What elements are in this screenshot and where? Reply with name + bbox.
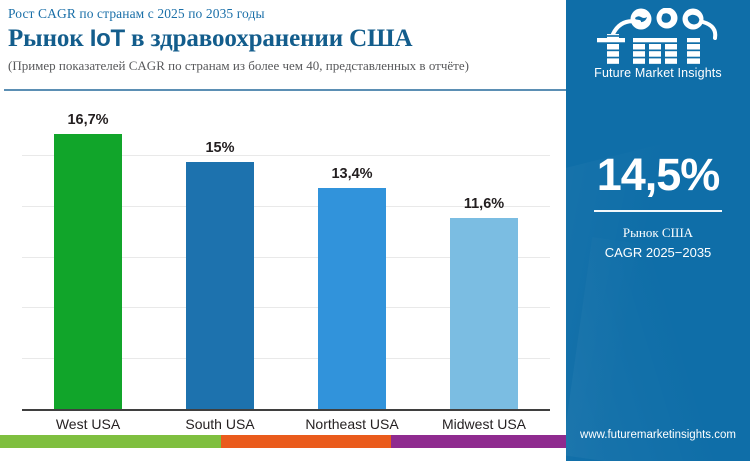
bar[interactable] <box>318 188 386 409</box>
category-label: West USA <box>22 416 154 432</box>
header-eyebrow: Рост CAGR по странам с 2025 по 2035 годы <box>8 6 560 22</box>
bar-group[interactable]: 13,4% <box>286 104 418 409</box>
bar[interactable] <box>186 162 254 409</box>
strip-segment <box>221 435 391 448</box>
fmi-logo-svg <box>583 8 733 64</box>
title-part-before: Рынок <box>8 25 90 52</box>
chart-axis-line <box>22 409 550 411</box>
infographic-poster: Рост CAGR по странам с 2025 по 2035 годы… <box>0 0 750 461</box>
category-label: South USA <box>154 416 286 432</box>
strip-segment <box>391 435 566 448</box>
chart-panel: Рост CAGR по странам с 2025 по 2035 годы… <box>0 0 566 448</box>
category-label: Midwest USA <box>418 416 550 432</box>
category-label: Northeast USA <box>286 416 418 432</box>
strip-segment <box>0 435 221 448</box>
fmi-logo-icon <box>583 8 733 64</box>
brand-tagline: Future Market Insights <box>566 66 750 80</box>
bar-group[interactable]: 15% <box>154 104 286 409</box>
bar[interactable] <box>54 134 122 409</box>
bar-value-label: 13,4% <box>331 166 372 182</box>
website-url[interactable]: www.futuremarketinsights.com <box>566 429 750 441</box>
bar-value-label: 15% <box>205 140 234 156</box>
brand-panel: Future Market Insights 14,5% Рынок США C… <box>566 0 750 461</box>
title-part-after: в здравоохранении США <box>125 25 413 52</box>
header: Рост CAGR по странам с 2025 по 2035 годы… <box>8 6 560 74</box>
metric-caption-period: CAGR 2025−2035 <box>566 243 750 263</box>
bar-value-label: 11,6% <box>464 196 504 212</box>
metric-caption-market: Рынок США <box>566 223 750 243</box>
metric-value: 14,5% <box>566 152 750 197</box>
chart-bars: 16,7%15%13,4%11,6% <box>22 104 550 409</box>
bar-chart: 16,7%15%13,4%11,6% West USASouth USANort… <box>0 96 566 448</box>
header-divider <box>4 89 566 91</box>
bar[interactable] <box>450 218 518 409</box>
bar-group[interactable]: 16,7% <box>22 104 154 409</box>
page-title: Рынок IoT в здравоохранении США <box>8 25 560 53</box>
metric-divider <box>594 210 722 212</box>
bottom-color-strip <box>0 435 566 448</box>
highlight-metric: 14,5% Рынок США CAGR 2025−2035 <box>566 152 750 263</box>
brand-logo: Future Market Insights <box>566 8 750 80</box>
header-subtitle: (Пример показателей CAGR по странам из б… <box>8 58 560 74</box>
bar-group[interactable]: 11,6% <box>418 104 550 409</box>
title-iot: IoT <box>90 25 125 52</box>
bar-value-label: 16,7% <box>67 112 108 128</box>
